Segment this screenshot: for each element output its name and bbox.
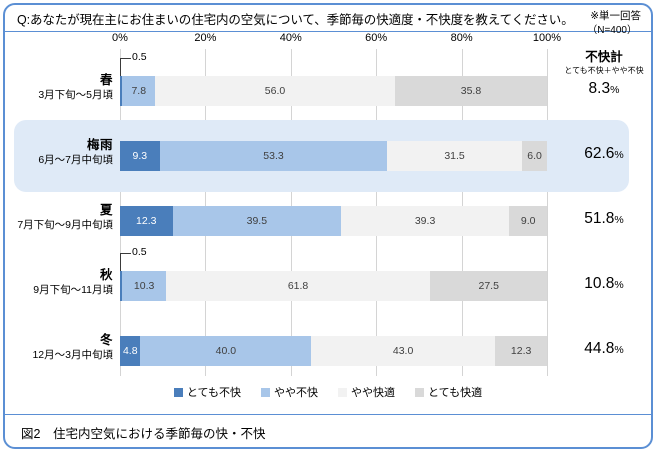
- uncomfortable-total: 8.3%: [561, 80, 647, 98]
- bar-segment: 56.0: [155, 76, 394, 106]
- bar-segment: 53.3: [160, 141, 388, 171]
- bar-segment: 35.8: [395, 76, 548, 106]
- bar-segment: 9.3: [120, 141, 160, 171]
- x-axis-tick-label: 20%: [194, 32, 216, 44]
- legend-item[interactable]: やや不快: [261, 384, 318, 400]
- legend-label: とても快適: [428, 384, 482, 400]
- season-label: 秋9月下旬～11月頃: [5, 268, 113, 298]
- season-name: 夏: [5, 203, 113, 218]
- uncomfortable-total-number: 51.8: [584, 210, 614, 227]
- x-axis-tick-label: 100%: [533, 32, 561, 44]
- uncomfortable-total-number: 8.3: [589, 80, 611, 97]
- legend-swatch-icon: [174, 388, 183, 397]
- callout-leader-line: [120, 253, 121, 273]
- bar-segment: 6.0: [522, 141, 548, 171]
- uncomfortable-total: 51.8%: [561, 210, 647, 228]
- chart-area: 0%20%40%60%80%100% 春3月下旬～5月頃0.57.856.035…: [5, 32, 651, 411]
- percent-sign: %: [610, 84, 619, 96]
- summary-column-header: 不快計 とても不快＋やや不快: [561, 50, 647, 76]
- season-period: 6月～7月中旬頃: [5, 153, 113, 168]
- x-axis-tick-label: 0%: [112, 32, 128, 44]
- figure-footer: 図2 住宅内空気における季節毎の快・不快: [5, 414, 651, 447]
- legend-label: やや不快: [274, 384, 318, 400]
- bar-segment: 4.8: [120, 336, 140, 366]
- legend-swatch-icon: [338, 388, 347, 397]
- season-period: 7月下旬～9月中旬頃: [5, 218, 113, 233]
- season-name: 春: [5, 73, 113, 88]
- season-label: 梅雨6月～7月中旬頃: [5, 138, 113, 168]
- stacked-bar: 12.339.539.39.0: [120, 206, 547, 236]
- question-header: Q:あなたが現在主にお住まいの住宅内の空気について、季節毎の快適度・不快度を教え…: [5, 5, 651, 32]
- bar-segment: 12.3: [495, 336, 548, 366]
- legend-item[interactable]: とても不快: [174, 384, 241, 400]
- value-callout: 0.5: [120, 56, 154, 78]
- callout-leader-line: [120, 253, 131, 254]
- callout-value: 0.5: [132, 51, 147, 63]
- chart-legend: とても不快やや不快やや快適とても快適: [5, 384, 651, 400]
- season-period: 3月下旬～5月頃: [5, 88, 113, 103]
- callout-value: 0.5: [132, 246, 147, 258]
- legend-swatch-icon: [261, 388, 270, 397]
- percent-sign: %: [614, 149, 623, 161]
- bar-segment: 39.3: [341, 206, 509, 236]
- figure-caption: 図2 住宅内空気における季節毎の快・不快: [21, 423, 265, 442]
- bar-segment: 27.5: [430, 271, 547, 301]
- stacked-bar: 9.353.331.56.0: [120, 141, 547, 171]
- season-name: 梅雨: [5, 138, 113, 153]
- stacked-bar: 10.361.827.5: [120, 271, 547, 301]
- uncomfortable-total: 62.6%: [561, 145, 647, 163]
- bar-segment: 43.0: [311, 336, 495, 366]
- summary-subtitle: とても不快＋やや不快: [561, 65, 647, 76]
- uncomfortable-total: 10.8%: [561, 275, 647, 293]
- bar-segment: 12.3: [120, 206, 173, 236]
- percent-sign: %: [614, 214, 623, 226]
- bar-segment: 40.0: [140, 336, 311, 366]
- season-name: 秋: [5, 268, 113, 283]
- stacked-bar: 4.840.043.012.3: [120, 336, 547, 366]
- season-period: 12月～3月中旬頃: [5, 348, 113, 363]
- callout-leader-line: [120, 58, 131, 59]
- x-axis-tick-label: 40%: [280, 32, 302, 44]
- x-axis-tick-label: 80%: [451, 32, 473, 44]
- bar-segment: 39.5: [173, 206, 342, 236]
- legend-label: とても不快: [187, 384, 241, 400]
- legend-swatch-icon: [415, 388, 424, 397]
- legend-item[interactable]: やや快適: [338, 384, 395, 400]
- legend-label: やや快適: [351, 384, 395, 400]
- uncomfortable-total-number: 62.6: [584, 145, 614, 162]
- bar-segment: 61.8: [166, 271, 430, 301]
- season-label: 冬12月～3月中旬頃: [5, 333, 113, 363]
- bar-segment: 31.5: [387, 141, 522, 171]
- uncomfortable-total: 44.8%: [561, 340, 647, 358]
- callout-leader-line: [120, 58, 121, 78]
- season-period: 9月下旬～11月頃: [5, 283, 113, 298]
- legend-item[interactable]: とても快適: [415, 384, 482, 400]
- season-label: 夏7月下旬～9月中旬頃: [5, 203, 113, 233]
- season-name: 冬: [5, 333, 113, 348]
- uncomfortable-total-number: 44.8: [584, 340, 614, 357]
- stacked-bar: 7.856.035.8: [120, 76, 547, 106]
- uncomfortable-total-number: 10.8: [584, 275, 614, 292]
- bar-segment: 9.0: [509, 206, 547, 236]
- bar-segment: 7.8: [122, 76, 155, 106]
- figure-frame: Q:あなたが現在主にお住まいの住宅内の空気について、季節毎の快適度・不快度を教え…: [3, 3, 653, 449]
- season-label: 春3月下旬～5月頃: [5, 73, 113, 103]
- bar-segment: 10.3: [122, 271, 166, 301]
- question-text: Q:あなたが現在主にお住まいの住宅内の空気について、季節毎の快適度・不快度を教え…: [17, 9, 574, 28]
- percent-sign: %: [614, 344, 623, 356]
- value-callout: 0.5: [120, 251, 154, 273]
- summary-title: 不快計: [561, 50, 647, 65]
- x-axis-tick-label: 60%: [365, 32, 387, 44]
- percent-sign: %: [614, 279, 623, 291]
